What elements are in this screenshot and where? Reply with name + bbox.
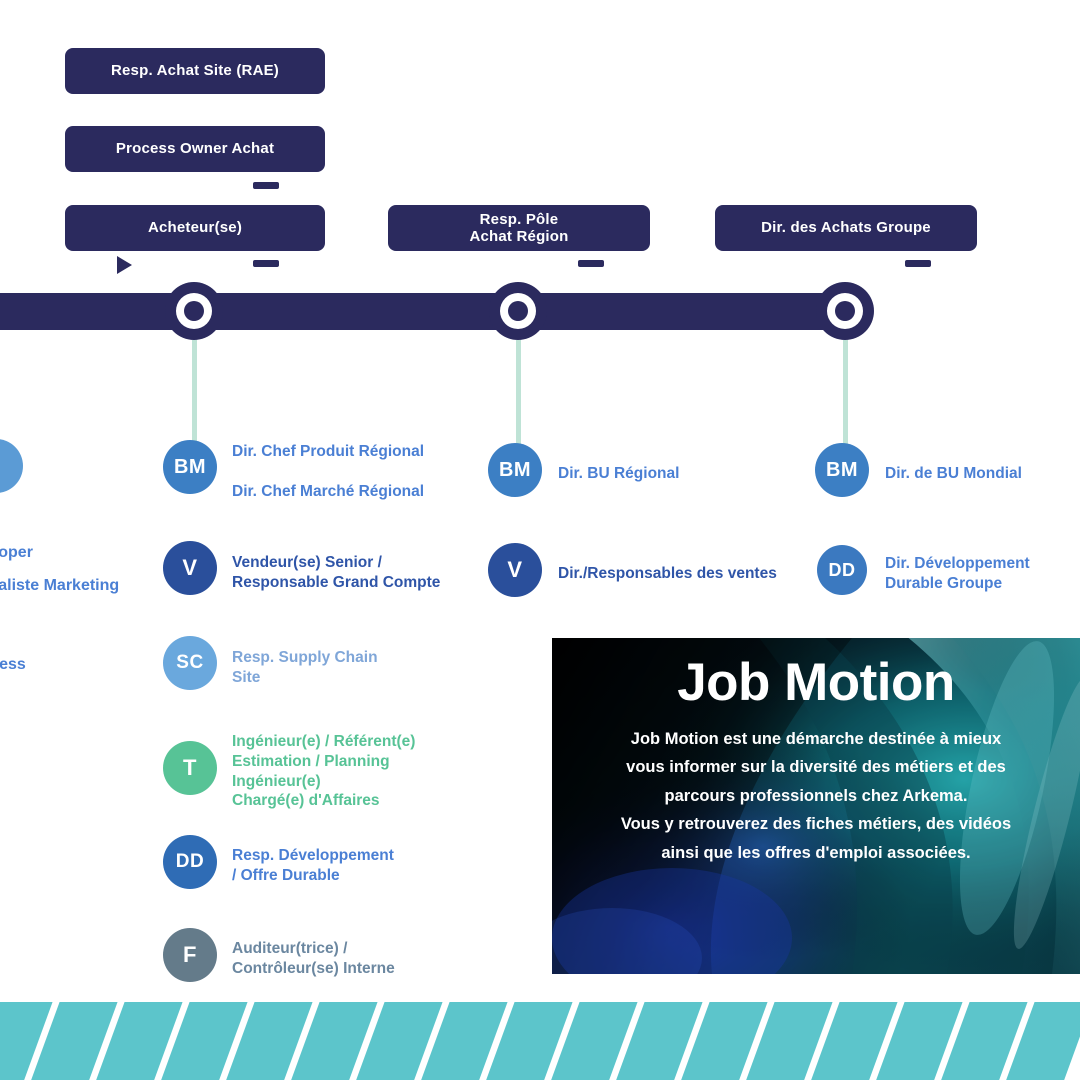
avatar-initials: DD bbox=[176, 851, 204, 873]
play-triangle-icon bbox=[117, 256, 132, 274]
connector-groupe bbox=[843, 340, 848, 452]
node-ring bbox=[827, 293, 863, 329]
dash-process-owner-marker bbox=[253, 182, 279, 189]
job-motion-description: Job Motion est une démarche destinée à m… bbox=[616, 725, 1016, 867]
avatar-initials: T bbox=[183, 755, 197, 781]
dash-groupe-marker bbox=[905, 260, 931, 267]
avatar-entry-v-site[interactable]: V bbox=[163, 541, 217, 595]
label-entry-developer: veloper bbox=[0, 543, 33, 563]
node-ring bbox=[176, 293, 212, 329]
connector-region bbox=[516, 340, 521, 452]
avatar-entry-sc-site[interactable]: SC bbox=[163, 636, 217, 690]
role-box-line: Achat Région bbox=[469, 228, 568, 245]
role-box-line: Resp. Achat Site (RAE) bbox=[111, 62, 279, 79]
job-motion-title: Job Motion bbox=[677, 652, 955, 713]
node-region[interactable] bbox=[489, 282, 547, 340]
node-core bbox=[184, 301, 204, 321]
node-groupe[interactable] bbox=[816, 282, 874, 340]
dash-acheteur-marker bbox=[253, 260, 279, 267]
avatar-entry-bm-site[interactable]: BM bbox=[163, 440, 217, 494]
role-box-line: Resp. Pôle bbox=[469, 211, 568, 228]
avatar-initials: DD bbox=[829, 560, 856, 581]
role-box-acheteur[interactable]: Acheteur(se) bbox=[65, 205, 325, 251]
avatar-initials: SC bbox=[176, 652, 203, 674]
label-entry-v-site: Vendeur(se) Senior / Responsable Grand C… bbox=[232, 553, 440, 593]
role-box-line: Dir. des Achats Groupe bbox=[761, 219, 931, 236]
dash-pole-marker bbox=[578, 260, 604, 267]
label-entry-v-region: Dir./Responsables des ventes bbox=[558, 564, 777, 584]
avatar-initials: BM bbox=[826, 459, 858, 482]
role-box-dir-des-achats-groupe[interactable]: Dir. des Achats Groupe bbox=[715, 205, 977, 251]
connector-site bbox=[192, 340, 197, 452]
avatar-initials: BM bbox=[499, 459, 531, 482]
avatar-entry-t-site[interactable]: T bbox=[163, 741, 217, 795]
label-entry-bm-site: Dir. Chef Produit Régional Dir. Chef Mar… bbox=[232, 442, 424, 501]
avatar-entry-f-site[interactable]: F bbox=[163, 928, 217, 982]
label-entry-sc-site: Resp. Supply Chain Site bbox=[232, 648, 378, 688]
role-box-line: Process Owner Achat bbox=[116, 140, 274, 157]
job-motion-card[interactable]: Job Motion Job Motion est une démarche d… bbox=[552, 638, 1080, 974]
label-entry-bm-groupe: Dir. de BU Mondial bbox=[885, 464, 1022, 484]
infographic-canvas: Resp. Achat Site (RAE)Process Owner Acha… bbox=[0, 0, 1080, 1080]
role-box-resp-achat-site[interactable]: Resp. Achat Site (RAE) bbox=[65, 48, 325, 94]
avatar-initials: BM bbox=[174, 456, 206, 479]
avatar-initials: V bbox=[507, 557, 522, 583]
node-site[interactable] bbox=[165, 282, 223, 340]
node-core bbox=[835, 301, 855, 321]
role-box-resp-pole-achat-region[interactable]: Resp. PôleAchat Région bbox=[388, 205, 650, 251]
avatar-initials: V bbox=[182, 555, 197, 581]
label-entry-dd-site: Resp. Développement / Offre Durable bbox=[232, 846, 394, 886]
avatar-entry-bm-region[interactable]: BM bbox=[488, 443, 542, 497]
node-ring bbox=[500, 293, 536, 329]
label-entry-specialiste-marketing: écialiste Marketing bbox=[0, 576, 119, 596]
role-box-line: Acheteur(se) bbox=[148, 219, 242, 236]
avatar-entry-bm-groupe[interactable]: BM bbox=[815, 443, 869, 497]
node-core bbox=[508, 301, 528, 321]
label-entry-dd-groupe: Dir. Développement Durable Groupe bbox=[885, 554, 1030, 594]
label-entry-t-site: Ingénieur(e) / Référent(e) Estimation / … bbox=[232, 732, 415, 811]
label-entry-business: siness bbox=[0, 655, 26, 675]
label-entry-bm-region: Dir. BU Régional bbox=[558, 464, 679, 484]
label-entry-f-site: Auditeur(trice) / Contrôleur(se) Interne bbox=[232, 939, 395, 979]
avatar-entry-dd-groupe[interactable]: DD bbox=[817, 545, 867, 595]
role-box-process-owner-achat[interactable]: Process Owner Achat bbox=[65, 126, 325, 172]
avatar-entry-dd-site[interactable]: DD bbox=[163, 835, 217, 889]
timeline-bar bbox=[0, 293, 865, 330]
avatar-entry-v-region[interactable]: V bbox=[488, 543, 542, 597]
avatar-initials: F bbox=[183, 942, 197, 968]
avatar-entry-left-partial-avatar[interactable] bbox=[0, 439, 23, 493]
footer-stripe-band bbox=[0, 1002, 1080, 1080]
